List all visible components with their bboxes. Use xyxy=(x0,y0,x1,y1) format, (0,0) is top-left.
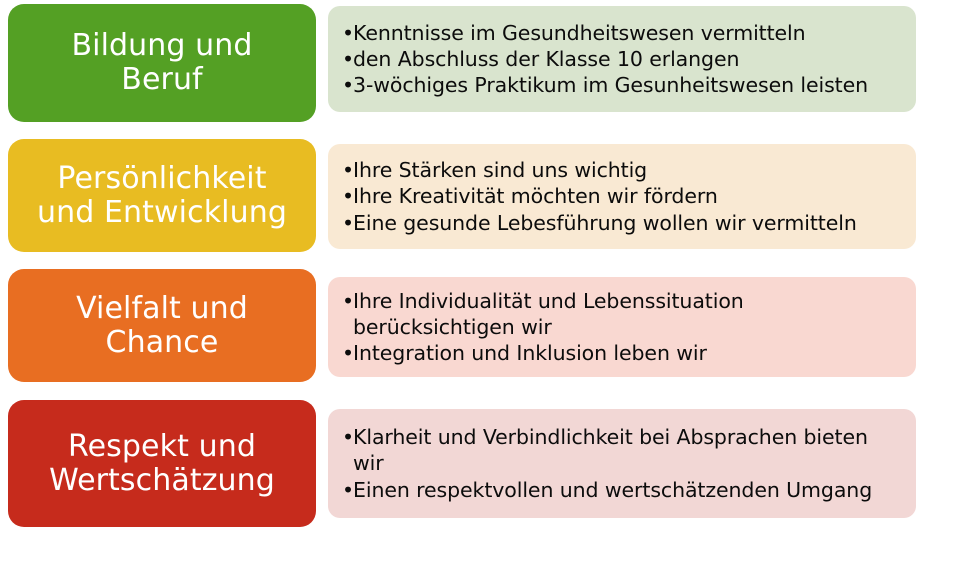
bullet-item: • Integration und Inklusion leben wir xyxy=(342,340,906,366)
bullet-dot-icon: • xyxy=(342,183,353,209)
bullet-dot-icon: • xyxy=(342,20,353,46)
category-label-vielfalt-und-chance[interactable]: Vielfalt und Chance xyxy=(8,269,316,382)
bullet-text: den Abschluss der Klasse 10 erlangen xyxy=(353,46,906,72)
bullet-item: • 3-wöchiges Praktikum im Gesunheitswese… xyxy=(342,72,906,98)
bullet-text: Kenntnisse im Gesundheitswesen vermittel… xyxy=(353,20,906,46)
bullet-dot-icon: • xyxy=(342,157,353,183)
bullet-text: Integration und Inklusion leben wir xyxy=(353,340,906,366)
category-label-text: Persönlichkeit und Entwicklung xyxy=(37,162,287,229)
detail-panel-bildung-und-beruf: • Kenntnisse im Gesundheitswesen vermitt… xyxy=(328,6,916,112)
bullet-item: • Kenntnisse im Gesundheitswesen vermitt… xyxy=(342,20,906,46)
bullet-item: • den Abschluss der Klasse 10 erlangen xyxy=(342,46,906,72)
category-label-persoenlichkeit-und-entwicklung[interactable]: Persönlichkeit und Entwicklung xyxy=(8,139,316,252)
detail-panel-vielfalt-und-chance: • Ihre Individualität und Lebenssituatio… xyxy=(328,277,916,377)
bullet-text: Ihre Kreativität möchten wir fördern xyxy=(353,183,906,209)
detail-panel-persoenlichkeit-und-entwicklung: • Ihre Stärken sind uns wichtig • Ihre K… xyxy=(328,144,916,249)
category-label-text: Respekt und Wertschätzung xyxy=(49,430,275,497)
bullet-item: • Klarheit und Verbindlichkeit bei Abspr… xyxy=(342,424,906,476)
bullet-text: Ihre Stärken sind uns wichtig xyxy=(353,157,906,183)
bullet-text: Einen respektvollen und wertschätzenden … xyxy=(353,477,906,503)
bullet-dot-icon: • xyxy=(342,340,353,366)
bullet-item: • Ihre Kreativität möchten wir fördern xyxy=(342,183,906,209)
bullet-dot-icon: • xyxy=(342,477,353,503)
bullet-dot-icon: • xyxy=(342,46,353,72)
category-label-bildung-und-beruf[interactable]: Bildung und Beruf xyxy=(8,4,316,122)
bullet-text: 3-wöchiges Praktikum im Gesunheitswesen … xyxy=(353,72,906,98)
bullet-item: • Eine gesunde Lebesführung wollen wir v… xyxy=(342,210,906,236)
category-label-text: Vielfalt und Chance xyxy=(76,292,248,359)
bullet-dot-icon: • xyxy=(342,72,353,98)
bullet-text: Ihre Individualität und Lebenssituation … xyxy=(353,288,906,340)
bullet-text: Eine gesunde Lebesführung wollen wir ver… xyxy=(353,210,906,236)
bullet-dot-icon: • xyxy=(342,424,353,450)
bullet-item: • Einen respektvollen und wertschätzende… xyxy=(342,477,906,503)
bullet-item: • Ihre Stärken sind uns wichtig xyxy=(342,157,906,183)
bullet-text: Klarheit und Verbindlichkeit bei Absprac… xyxy=(353,424,906,476)
bullet-dot-icon: • xyxy=(342,288,353,314)
leitbild-diagram: Bildung und Beruf • Kenntnisse im Gesund… xyxy=(0,0,972,577)
category-label-text: Bildung und Beruf xyxy=(71,29,252,96)
bullet-item: • Ihre Individualität und Lebenssituatio… xyxy=(342,288,906,340)
bullet-dot-icon: • xyxy=(342,210,353,236)
detail-panel-respekt-und-wertschaetzung: • Klarheit und Verbindlichkeit bei Abspr… xyxy=(328,409,916,518)
category-label-respekt-und-wertschaetzung[interactable]: Respekt und Wertschätzung xyxy=(8,400,316,527)
